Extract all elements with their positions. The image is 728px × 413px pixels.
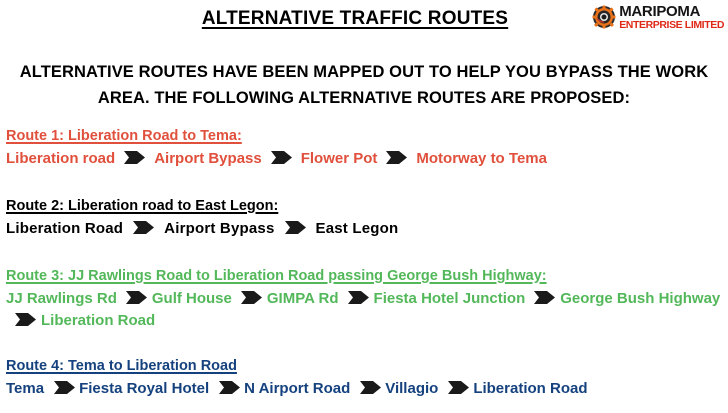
route-steps: Liberation roadAirport BypassFlower PotM…	[6, 148, 724, 170]
route-step: Villagio	[385, 380, 438, 397]
company-logo: MARIPOMA ENTERPRISE LIMITED	[592, 4, 724, 31]
route-step: Liberation Road	[6, 220, 123, 237]
chevron-banner-arrow-icon	[54, 379, 75, 392]
intro-paragraph: ALTERNATIVE ROUTES HAVE BEEN MAPPED OUT …	[6, 60, 722, 111]
chevron-banner-arrow-icon	[133, 219, 154, 232]
chevron-banner-arrow-icon	[126, 289, 147, 302]
chevron-banner-arrow-icon	[360, 379, 381, 392]
route-step: Liberation road	[6, 150, 115, 167]
route-steps: Liberation RoadAirport BypassEast Legon	[6, 218, 724, 240]
chevron-banner-arrow-icon	[15, 311, 36, 324]
logo-company-subtitle: ENTERPRISE LIMITED	[619, 20, 724, 31]
route-step: GIMPA Rd	[267, 290, 339, 307]
route-heading: Route 1: Liberation Road to Tema:	[6, 128, 242, 144]
route-step: Gulf House	[152, 290, 232, 307]
route-step: Flower Pot	[301, 150, 378, 167]
route-block-4: Route 4: Tema to Liberation Road TemaFie…	[6, 357, 724, 400]
route-steps: TemaFiesta Royal HotelN Airport RoadVill…	[6, 378, 724, 400]
chevron-banner-arrow-icon	[124, 149, 145, 162]
route-step: Liberation Road	[41, 312, 155, 329]
chevron-banner-arrow-icon	[448, 379, 469, 392]
logo-company-name: MARIPOMA	[619, 4, 724, 19]
route-block-2: Route 2: Liberation road to East Legon: …	[6, 197, 724, 240]
route-step: JJ Rawlings Rd	[6, 290, 117, 307]
route-heading: Route 4: Tema to Liberation Road	[6, 358, 237, 374]
route-step: Motorway to Tema	[416, 150, 547, 167]
gear-emblem-icon	[592, 5, 616, 29]
chevron-banner-arrow-icon	[271, 149, 292, 162]
route-steps: JJ Rawlings RdGulf HouseGIMPA RdFiesta H…	[6, 288, 724, 332]
route-step: Fiesta Hotel Junction	[374, 290, 526, 307]
chevron-banner-arrow-icon	[386, 149, 407, 162]
route-step: Liberation Road	[473, 380, 587, 397]
chevron-banner-arrow-icon	[348, 289, 369, 302]
logo-wordmark: MARIPOMA ENTERPRISE LIMITED	[619, 4, 724, 31]
chevron-banner-arrow-icon	[534, 289, 555, 302]
route-step: Airport Bypass	[154, 150, 262, 167]
route-block-3: Route 3: JJ Rawlings Road to Liberation …	[6, 267, 724, 332]
route-step: Fiesta Royal Hotel	[79, 380, 209, 397]
route-step: East Legon	[316, 220, 399, 237]
chevron-banner-arrow-icon	[285, 219, 306, 232]
chevron-banner-arrow-icon	[241, 289, 262, 302]
route-step: N Airport Road	[244, 380, 350, 397]
route-heading: Route 2: Liberation road to East Legon:	[6, 198, 278, 214]
route-heading: Route 3: JJ Rawlings Road to Liberation …	[6, 268, 547, 284]
chevron-banner-arrow-icon	[219, 379, 240, 392]
route-step: Tema	[6, 380, 44, 397]
route-block-1: Route 1: Liberation Road to Tema: Libera…	[6, 127, 724, 170]
route-step: Airport Bypass	[164, 220, 274, 237]
route-step: George Bush Highway	[560, 290, 720, 307]
